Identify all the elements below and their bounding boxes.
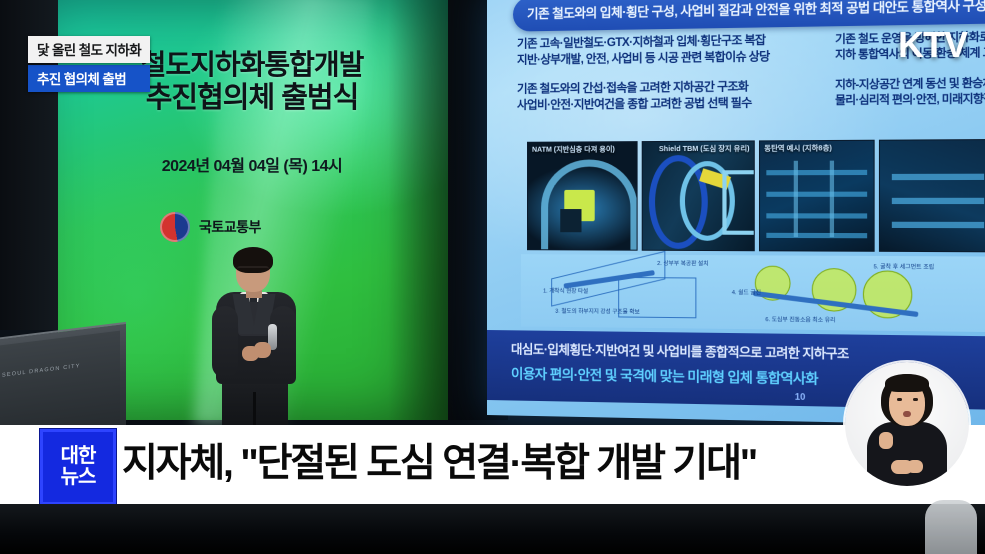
program-badge: 대한 뉴스 [40,429,116,505]
station-level-1 [767,169,867,174]
glasses-icon [237,266,269,276]
slide-page-number: 10 [795,391,806,401]
right-para-2: 지하-지상공간 연계 동선 및 환승체계 물리·심리적 편의·안전, 미래지향적 [835,75,985,108]
slide-photo-row: NATM (지반심층 다져 용이) Shield TBM (도심 장지 유리) … [527,139,985,252]
photo-station-interior: 동탄역 예시 (지하8층) [759,140,875,252]
news-headline: 지자체, "단절된 도심 연결·복합 개발 기대" [122,432,822,488]
banner-date: 2024년 04월 04일 (목) 14시 [62,152,442,176]
photo-station-detail [879,139,985,252]
tbm-grid-shape [722,170,754,235]
left-para-1: 기존 고속·일반철도·GTX·지하철과 입체·횡단구조 복잡 지반·상부개발, … [517,33,827,69]
diagram-label-4: 4. 쉴드 굴진 [732,288,761,296]
signer-fringe [885,374,929,392]
detail-bar-3 [892,222,985,228]
badge-line-1: 대한 [61,446,96,467]
signer-mouth [903,411,911,417]
channel-logo: KTV [898,24,967,66]
diagram-label-2: 2. 상부부 복공판 설치 [657,259,708,267]
diagram-label-5: 5. 굴착 후 세그먼트 조립 [874,262,935,271]
slide-bottom-line1: 대심도·입체횡단·지반여건 및 사업비를 종합적으로 고려한 지하구조 [511,338,985,364]
ministry-name: 국토교통부 [199,217,261,237]
badge-line-2: 뉴스 [61,467,96,488]
photo-natm-tunnel: NATM (지반심층 다져 용이) [527,141,638,251]
sign-language-inset [845,362,969,486]
ministry-logo: 국토교통부 [160,212,350,242]
diagram-label-1: 1. 개착식 현장 타설 [543,286,588,294]
signer-hand-lower-right [907,460,923,473]
station-level-2 [767,191,867,196]
detail-bar-1 [892,173,985,179]
taegeuk-icon [160,212,190,242]
broadcast-frame: 철도지하화통합개발 추진협의체 출범식 2024년 04월 04일 (목) 14… [0,0,985,554]
diagram-label-3: 3. 철도의 하부지지 강성 구조물 확보 [555,307,640,316]
bottom-letterbox [0,504,985,554]
right-p2-line2: 물리·심리적 편의·안전, 미래지향적 [835,91,985,109]
right-p2-line1: 지하-지상공간 연계 동선 및 환승체계 [835,75,985,93]
photo-label-natm: NATM (지반심층 다져 용이) [532,144,615,155]
machine-shadow-shape [560,209,582,233]
slide-diagram-row: 1. 개착식 현장 타설 2. 상부부 복공판 설치 3. 철도의 하부지지 강… [521,254,985,332]
speaker-hand-right [254,342,271,358]
speaker-arm-left [212,306,238,378]
photo-label-shield: Shield TBM (도심 장지 유리) [659,144,750,155]
photo-label-station: 동탄역 예시 (지하8층) [764,143,832,154]
foreground-person-silhouette [925,500,977,554]
detail-bar-2 [892,198,985,204]
left-p2-line2: 사업비·안전·지반여건을 종합 고려한 공법 선택 필수 [517,95,827,114]
podium-face [0,331,120,441]
left-para-2: 기존 철도와의 간섭·접속을 고려한 지하공간 구조화 사업비·안전·지반여건을… [517,79,827,114]
station-level-4 [767,233,867,238]
slide-left-column: 기존 고속·일반철도·GTX·지하철과 입체·횡단구조 복잡 지반·상부개발, … [517,33,827,125]
station-level-3 [767,213,867,218]
speaker-person [196,250,316,435]
kicker-line-2: 추진 협의체 출범 [28,65,150,92]
signer-hand-raised [879,432,893,449]
kicker-line-1: 닻 올린 철도 지하화 [28,36,150,63]
kicker-overlay: 닻 올린 철도 지하화 추진 협의체 출범 [28,36,150,92]
station-column-1 [794,161,798,237]
signer-eye-right [913,398,918,401]
signer-body [867,422,947,486]
signer-eye-left [897,398,902,401]
photo-shield-tbm: Shield TBM (도심 장지 유리) [642,140,755,251]
station-column-2 [830,161,834,238]
diagram-label-6: 6. 도심부 진동소음 최소 유리 [765,315,835,324]
